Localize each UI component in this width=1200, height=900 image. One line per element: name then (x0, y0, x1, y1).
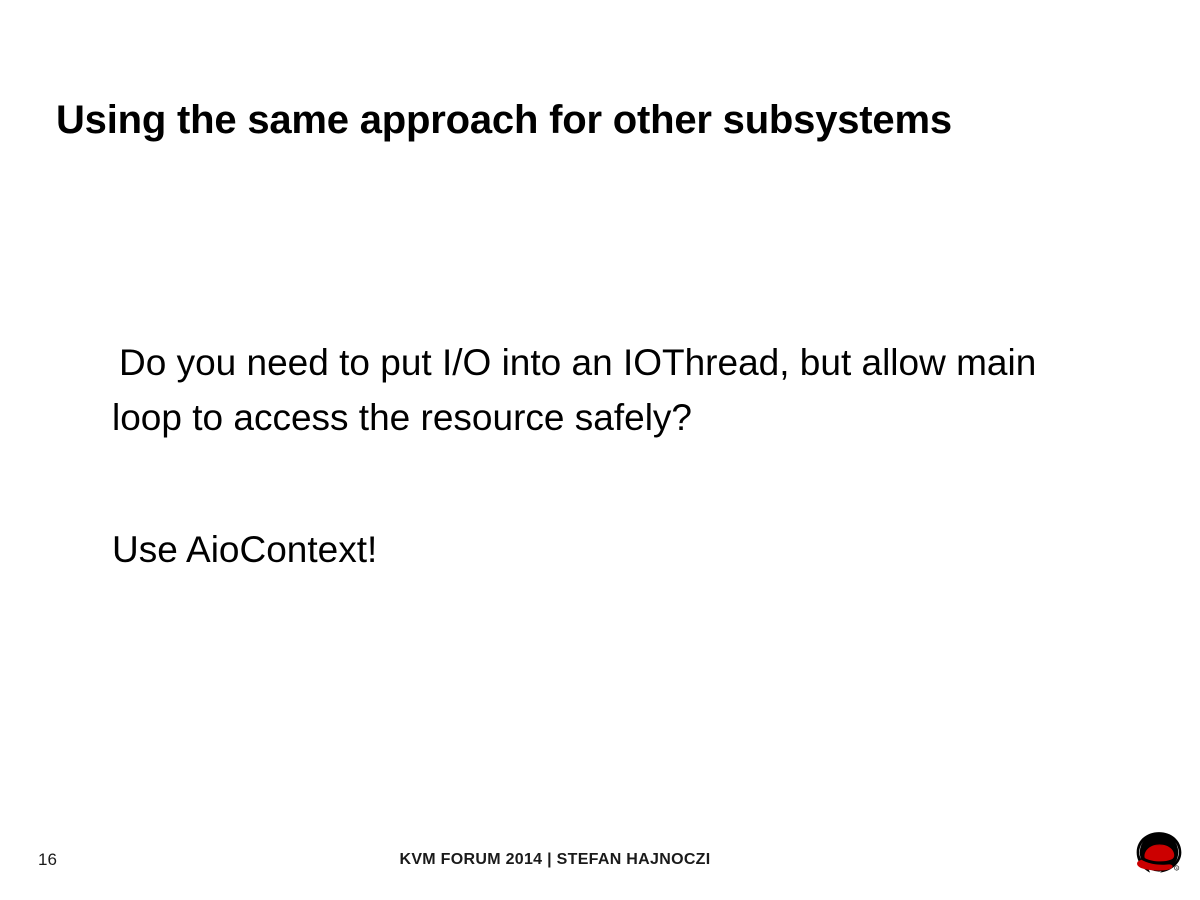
body-paragraph-answer: Use AioContext! (112, 522, 377, 577)
body-paragraph-question: Do you need to put I/O into an IOThread,… (112, 335, 1087, 445)
footer-conference-text: KVM FORUM 2014 | STEFAN HAJNOCZI (0, 849, 1110, 871)
page-title: Using the same approach for other subsys… (56, 95, 1146, 145)
red-hat-shadowman-logo: R (1133, 829, 1185, 881)
svg-text:R: R (1176, 866, 1178, 870)
slide-canvas: Using the same approach for other subsys… (0, 0, 1200, 900)
slide-body: Do you need to put I/O into an IOThread,… (112, 298, 1092, 482)
